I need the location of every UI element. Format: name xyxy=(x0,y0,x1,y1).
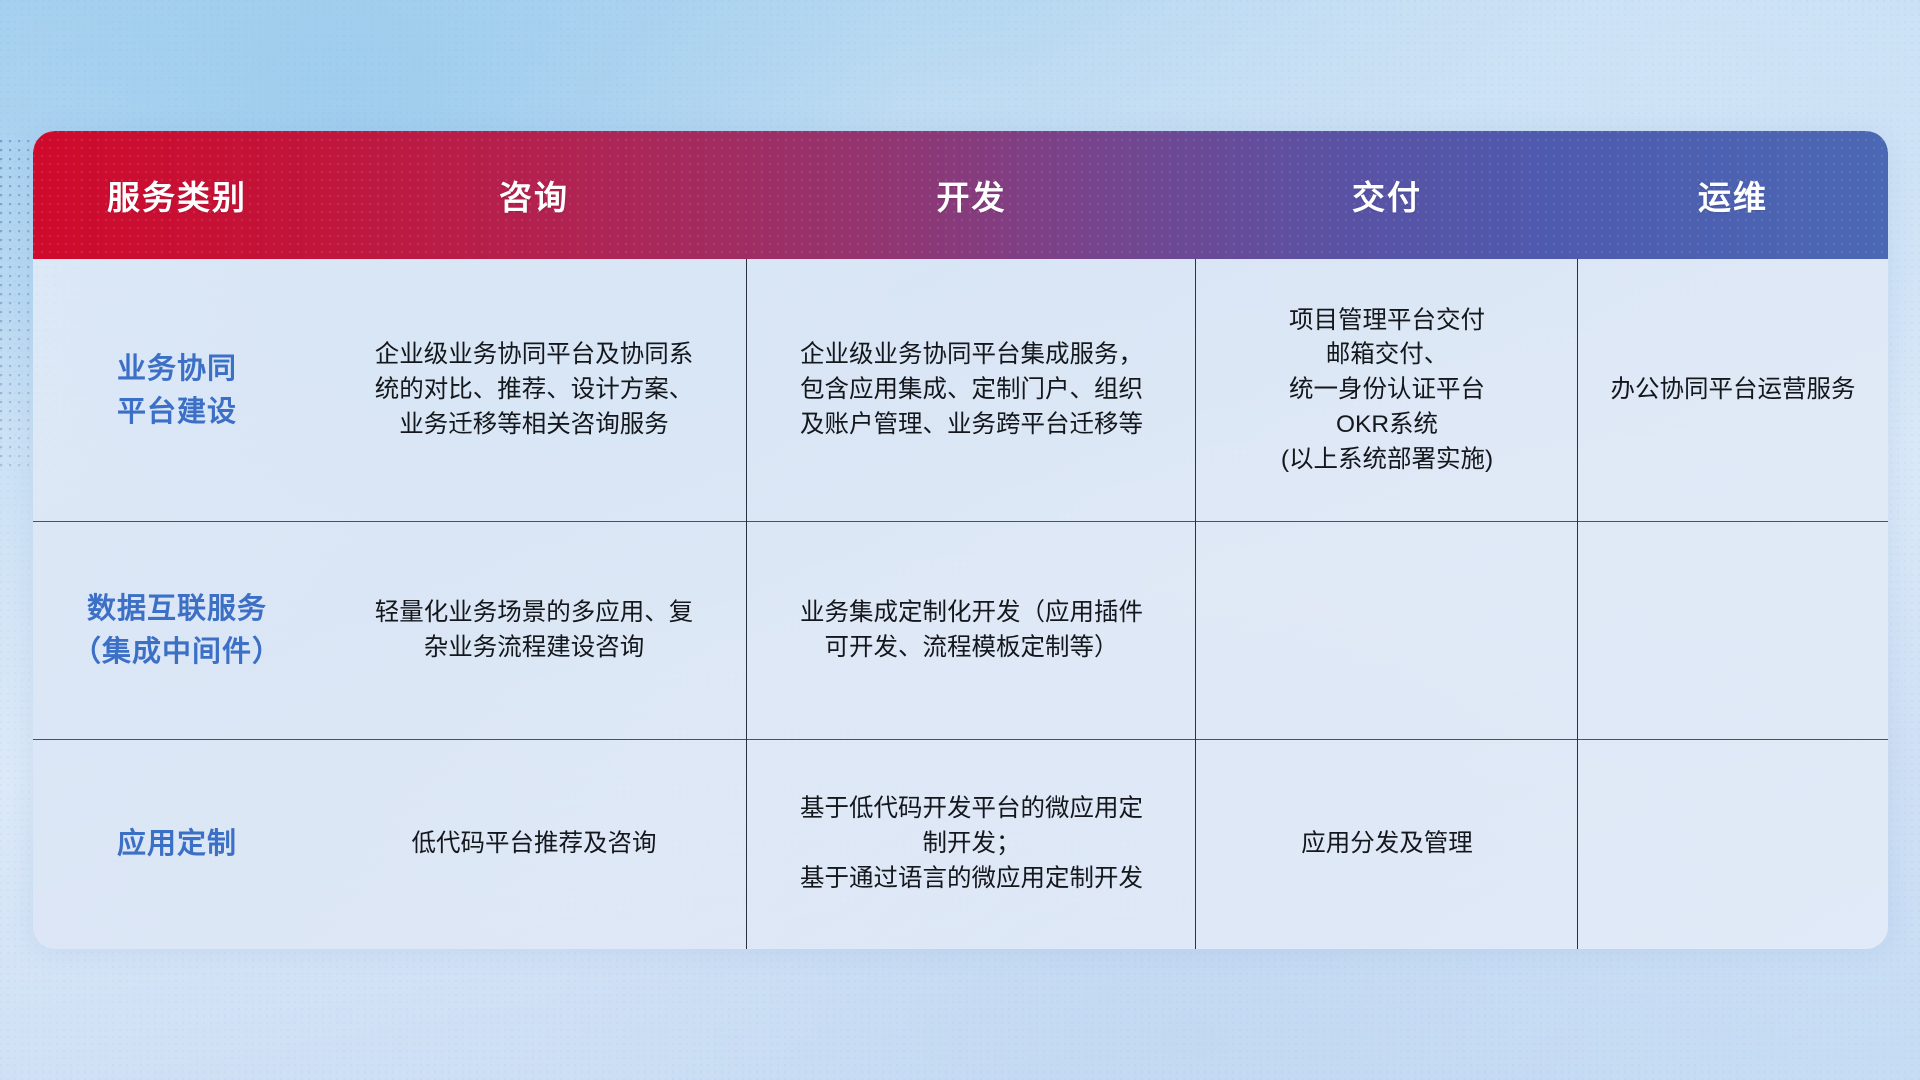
cell-category-3: 应用定制 xyxy=(33,740,321,949)
cell-delivery-3: 应用分发及管理 xyxy=(1196,740,1578,949)
table-row: 业务协同 平台建设 企业级业务协同平台及协同系 统的对比、推荐、设计方案、 业务… xyxy=(33,259,1888,522)
cell-operations-3 xyxy=(1578,740,1888,949)
table-header-row: 服务类别 咨询 开发 交付 运维 xyxy=(33,131,1888,259)
table-body: 业务协同 平台建设 企业级业务协同平台及协同系 统的对比、推荐、设计方案、 业务… xyxy=(33,259,1888,949)
table-row: 应用定制 低代码平台推荐及咨询 基于低代码开发平台的微应用定 制开发； 基于通过… xyxy=(33,740,1888,949)
column-header-development: 开发 xyxy=(747,131,1196,259)
column-header-consulting: 咨询 xyxy=(321,131,747,259)
column-header-operations: 运维 xyxy=(1578,131,1888,259)
service-matrix-card: 服务类别 咨询 开发 交付 运维 业务协同 平台建设 企业级业务协同平台及协同系… xyxy=(33,131,1888,949)
cell-development-2: 业务集成定制化开发（应用插件 可开发、流程模板定制等） xyxy=(747,522,1196,740)
cell-operations-2 xyxy=(1578,522,1888,740)
cell-consulting-3: 低代码平台推荐及咨询 xyxy=(321,740,747,949)
cell-category-2: 数据互联服务 （集成中间件） xyxy=(33,522,321,740)
cell-category-1: 业务协同 平台建设 xyxy=(33,259,321,522)
cell-operations-1: 办公协同平台运营服务 xyxy=(1578,259,1888,522)
cell-delivery-1: 项目管理平台交付 邮箱交付、 统一身份认证平台 OKR系统 (以上系统部署实施) xyxy=(1196,259,1578,522)
cell-delivery-2 xyxy=(1196,522,1578,740)
cell-development-1: 企业级业务协同平台集成服务， 包含应用集成、定制门户、组织 及账户管理、业务跨平… xyxy=(747,259,1196,522)
cell-consulting-2: 轻量化业务场景的多应用、复 杂业务流程建设咨询 xyxy=(321,522,747,740)
column-header-delivery: 交付 xyxy=(1196,131,1578,259)
cell-development-3: 基于低代码开发平台的微应用定 制开发； 基于通过语言的微应用定制开发 xyxy=(747,740,1196,949)
cell-consulting-1: 企业级业务协同平台及协同系 统的对比、推荐、设计方案、 业务迁移等相关咨询服务 xyxy=(321,259,747,522)
table-row: 数据互联服务 （集成中间件） 轻量化业务场景的多应用、复 杂业务流程建设咨询 业… xyxy=(33,522,1888,740)
column-header-category: 服务类别 xyxy=(33,131,321,259)
